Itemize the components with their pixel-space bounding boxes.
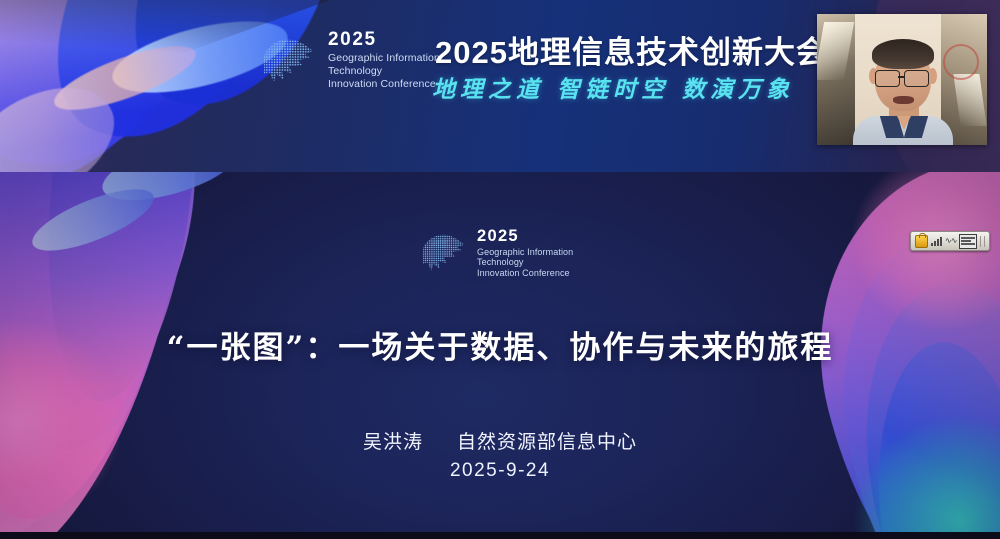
presenter-line: 吴洪涛自然资源部信息中心 — [0, 427, 1000, 454]
signal-bars-icon[interactable] — [931, 236, 942, 246]
screen-share-view: 2025 Geographic Information Technology I… — [0, 0, 1000, 539]
banner-logo-text: 2025 Geographic Information Technology I… — [328, 26, 440, 90]
slide-logo-line-2: Technology — [477, 257, 573, 268]
lock-icon[interactable] — [915, 235, 928, 248]
floating-mini-toolbar[interactable]: ∿∿ — [910, 231, 990, 251]
slide-logo-line-1: Geographic Information — [477, 247, 573, 258]
presentation-date: 2025-9-24 — [0, 460, 1000, 482]
slide-logo-year: 2025 — [477, 228, 573, 245]
screen-share-icon[interactable] — [959, 234, 977, 249]
banner-logo-line-1: Geographic Information — [328, 52, 440, 65]
banner-logo-year: 2025 — [328, 30, 440, 49]
slide-logo-text: 2025 Geographic Information Technology I… — [477, 224, 573, 279]
drag-grip-icon[interactable] — [980, 236, 985, 247]
banner-logo-line-3: Innovation Conference — [328, 78, 440, 91]
bottom-letterbox-strip — [0, 532, 1000, 539]
presenter-mouth — [893, 96, 914, 104]
dotted-globe-icon — [418, 227, 470, 279]
banner-logo-line-2: Technology — [328, 65, 440, 78]
slide-logo-line-3: Innovation Conference — [477, 268, 573, 279]
presenter-glasses-bridge — [898, 76, 904, 78]
sound-wave-icon[interactable]: ∿∿ — [945, 237, 956, 245]
presenter-organization: 自然资源部信息中心 — [457, 432, 637, 453]
banner-title: 2025地理信息技术创新大会 — [435, 27, 828, 72]
slide-conference-logo: 2025 Geographic Information Technology I… — [418, 224, 573, 279]
dotted-globe-icon — [258, 30, 320, 92]
presenter-glasses-right-lens — [904, 70, 929, 87]
presentation-slide: 2025 Geographic Information Technology I… — [0, 172, 1000, 532]
presenter-video-tile[interactable] — [817, 14, 987, 145]
presenter-name: 吴洪涛 — [363, 432, 423, 453]
presenter-hair — [872, 39, 934, 69]
video-wall-stamp — [943, 44, 979, 80]
banner-slogan: 地理之道 智链时空 数演万象 — [432, 70, 794, 104]
banner-conference-logo: 2025 Geographic Information Technology I… — [258, 26, 440, 92]
presenter-glasses-left-lens — [875, 70, 900, 87]
slide-title: “一张图”：一场关于数据、协作与未来的旅程 — [0, 322, 1000, 367]
